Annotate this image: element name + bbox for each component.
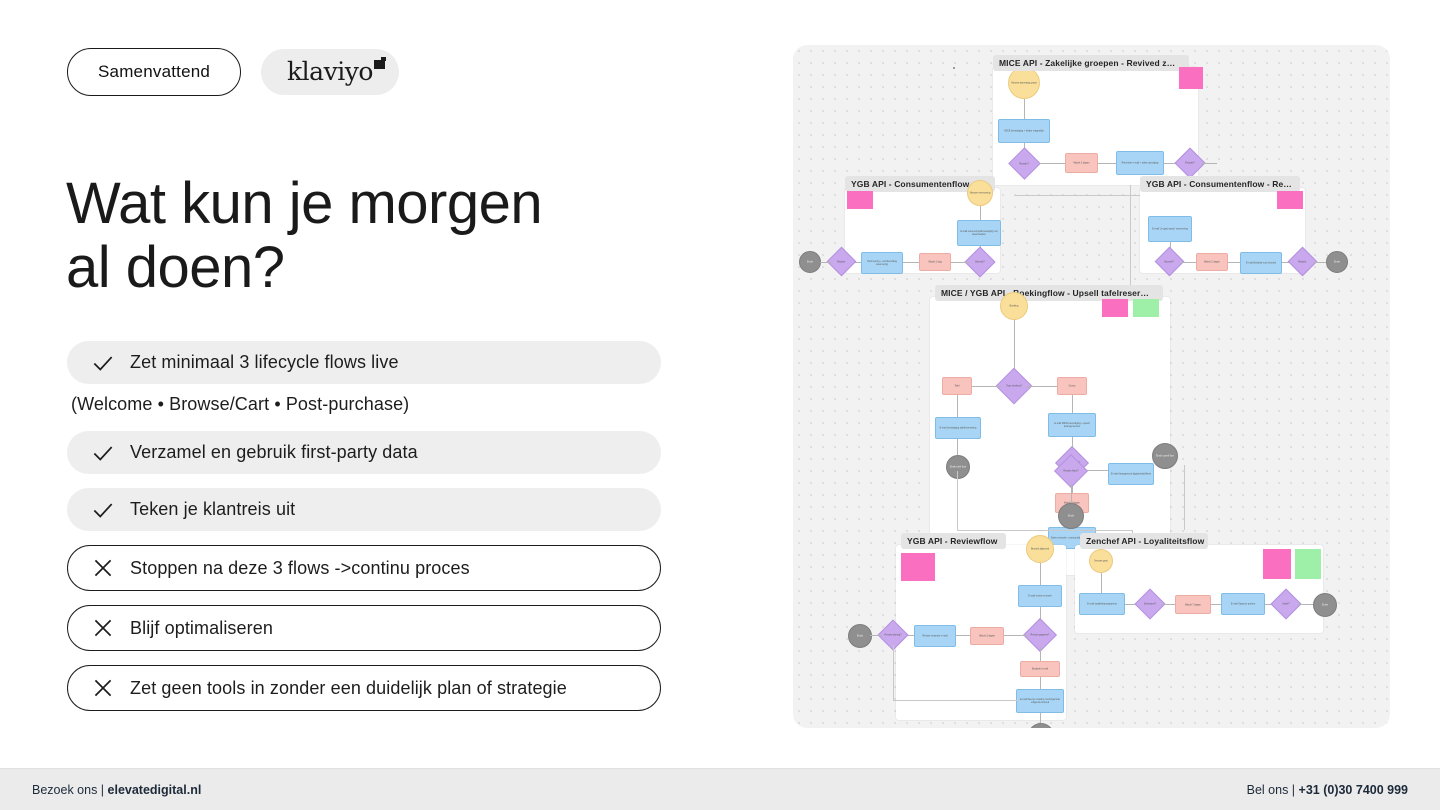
edge [1098,163,1116,164]
footer-right-prefix: Bel ons | [1247,783,1295,797]
sticky-note-pink[interactable] [1179,67,1203,89]
headline-line-2: al doen? [66,235,285,300]
list-item[interactable]: Zet geen tools in zonder een duidelijk p… [67,665,661,711]
node-action[interactable]: Review reminder e-mail [914,625,956,647]
node-end[interactable]: Einde [799,251,821,273]
checklist-note: (Welcome • Browse/Cart • Post-purchase) [71,394,661,415]
node-text: Bezoek? [1160,260,1179,263]
edge [1180,262,1196,263]
node-text: E-mail Spaar je punten [1222,602,1264,605]
node-text: E-mail Deel je ervaring / kortingscode v… [1017,698,1063,704]
node-text: Boeking [1001,304,1027,307]
edge [820,262,832,263]
list-item-label: Blijf optimaliseren [130,618,273,639]
node-text: Einde [849,634,871,637]
node-start[interactable]: Nieuwe reservering [967,180,993,206]
node-text: Review alsnog? [883,633,903,636]
node-text: Einde [800,260,820,263]
edge [957,395,958,417]
node-end[interactable]: Einde [848,624,872,648]
list-item[interactable]: Teken je klantreis uit [67,488,661,531]
edge [1040,563,1041,585]
connector [957,471,1072,531]
node-action[interactable]: E-mail Spaar je punten [1221,593,1265,615]
edge [970,386,1001,387]
node-text: Wacht 1 dag [920,260,950,263]
node-text: Tafel [943,384,971,387]
node-text: Einde [1327,260,1347,263]
footer-right: Bel ons | +31 (0)30 7400 999 [1247,783,1408,797]
check-icon [90,440,116,466]
node-text: Nieuwe aanvraag groep [1009,81,1039,84]
node-end[interactable]: Einde [1326,251,1348,273]
footer-left-prefix: Bezoek ons | [32,783,104,797]
footer-left-value[interactable]: elevatedigital.nl [108,783,202,797]
node-text: E-mail Bedankt voor bezoek [1241,261,1281,264]
node-text: Reactie [832,260,851,263]
edge [957,439,958,455]
footer-left: Bezoek ons | elevatedigital.nl [32,783,201,797]
node-action[interactable]: E-mail 'Je gast wacht' reservering [1148,216,1192,242]
node-branch-left[interactable]: Tafel [942,377,972,395]
frame-title: Zenchef API - Loyaliteitsflow [1080,533,1208,549]
node-text: Bezoek afgerond [1027,547,1053,550]
node-text: MICE bevestiging + intake vragenlijst [999,129,1049,132]
edge [1014,320,1015,374]
connector [893,645,1020,701]
edge [1297,604,1313,605]
node-text: Reactie? [1180,161,1200,164]
frame-title: YGB API - Consumentenflow - Re… [1140,176,1300,192]
edge [1024,99,1025,119]
frame-zenchef-loyaliteitsflow[interactable]: Zenchef API - Loyaliteitsflow Nieuwe gas… [1075,545,1323,633]
node-wait[interactable]: Wacht 7 dagen [1175,595,1211,614]
summary-pill[interactable]: Samenvattend [67,48,241,96]
sticky-note-pink[interactable] [1277,191,1303,209]
frame-mice-zakelijke-groepen[interactable]: Nieuwe aanvraag groep MICE bevestiging +… [993,67,1198,185]
footer-right-value[interactable]: +31 (0)30 7400 999 [1299,783,1408,797]
node-text: E-mail reserveringsbevestiging met sfeer… [958,230,1000,236]
frame-ygb-consumentenflow-left[interactable]: YGB API - Consumentenflow - … Nieuwe res… [845,188,1000,273]
node-text: Review reminder e-mail [915,634,955,637]
slide: Samenvattend klaviyo Wat kun je morgen a… [0,0,1440,810]
header-pill-row: Samenvattend klaviyo [67,48,399,96]
node-start[interactable]: Nieuwe gast [1089,549,1113,573]
edge [1027,386,1057,387]
edge [1101,573,1102,593]
headline-line-1: Wat kun je morgen [66,171,542,236]
node-action[interactable]: Herinnering + voorbereiding reservering [861,252,903,274]
node-text: Nieuwe gast [1090,559,1112,562]
node-text: E-mail bevestiging tafelreservering [936,426,980,429]
edge [1201,163,1217,164]
node-text: Einde [1314,603,1336,606]
edge [903,262,919,263]
node-text: Einde tafel flow [947,465,969,468]
edge [1040,713,1041,723]
node-text: Wacht 2 dagen [1066,161,1097,164]
list-item-label: Zet geen tools in zonder een duidelijk p… [130,678,567,699]
node-action[interactable]: MICE bevestiging + intake vragenlijst [998,119,1050,143]
node-text: Actief? [1276,602,1296,605]
node-wait[interactable]: Bedankt e-mail [1020,661,1060,677]
list-item-label: Stoppen na deze 3 flows ->continu proces [130,558,470,579]
edge [1004,635,1028,636]
edge [1228,262,1240,263]
node-text: Nieuwe reservering [968,191,992,194]
edge [980,206,981,220]
node-start[interactable]: Boeking [1000,292,1028,320]
sticky-note-pink[interactable] [1263,549,1291,579]
frame-title: MICE API - Zakelijke groepen - Revived z… [993,55,1189,71]
klaviyo-wordmark-text: klaviyo [287,59,373,85]
node-text: Reactie [1293,260,1312,263]
node-wait[interactable]: Wacht 2 dagen [1196,253,1228,271]
sticky-note-green[interactable] [1295,549,1321,579]
node-end[interactable]: Einde [1313,593,1337,617]
node-action[interactable]: E-mail review verzoek [1018,585,1062,607]
node-text: E-mail MICE bevestiging + upsell arrange… [1049,422,1095,428]
check-icon [90,497,116,523]
node-action[interactable]: E-mail bevestiging tafelreservering [935,417,981,439]
node-action[interactable]: E-mail Deel je ervaring / kortingscode v… [1016,689,1064,713]
action-checklist: Zet minimaal 3 lifecycle flows live (Wel… [67,341,661,725]
node-spacer [953,67,955,69]
edge [1313,262,1326,263]
list-item-label: Zet minimaal 3 lifecycle flows live [130,352,399,373]
klaviyo-logo: klaviyo [261,49,399,95]
footer: Bezoek ons | elevatedigital.nl Bel ons |… [0,768,1440,810]
node-text: E-mail 'Je gast wacht' reservering [1149,227,1191,230]
node-text: Reactie? [1014,162,1035,165]
cross-icon [90,615,116,641]
frame-ygb-reviewflow[interactable]: YGB API - Reviewflow Bezoek afgerond E-m… [896,545,1066,720]
list-item[interactable]: Blijf optimaliseren [67,605,661,651]
flowchart-board[interactable]: Nieuwe aanvraag groep MICE bevestiging +… [793,45,1390,728]
edge [1072,395,1073,413]
node-action[interactable]: E-mail Bedankt voor bezoek [1240,252,1282,274]
node-start[interactable]: Nieuwe aanvraag groep [1008,67,1040,99]
node-text: Groep [1058,384,1086,387]
list-item-label: Verzamel en gebruik first-party data [130,442,418,463]
node-action[interactable]: Reminder e-mail + sales opvolging [1116,151,1164,175]
edge [1040,677,1041,689]
connector [893,700,1020,701]
edge [950,262,970,263]
node-text: Bezoek? [970,260,990,263]
node-wait[interactable]: Wacht 1 dag [919,253,951,271]
node-wait[interactable]: Wacht 3 dagen [970,627,1004,645]
cross-icon [90,555,116,581]
node-text: Herinnering + voorbereiding reservering [862,260,902,266]
node-start[interactable]: Bezoek afgerond [1026,535,1054,563]
node-text: Bedankt e-mail [1021,667,1059,670]
sticky-note-pink[interactable] [1102,299,1128,317]
node-action[interactable]: E-mail loyaliteitsprogramma [1079,593,1125,615]
node-action[interactable]: E-mail reserveringsbevestiging met sfeer… [957,220,1001,246]
node-text: Einde upsell flow [1153,454,1177,457]
node-text: Review gegeven? [1029,633,1051,636]
list-item[interactable]: Zet minimaal 3 lifecycle flows live [67,341,661,384]
list-item[interactable]: Stoppen na deze 3 flows ->continu proces [67,545,661,591]
frame-ygb-consumentenflow-right[interactable]: YGB API - Consumentenflow - Re… E-mail '… [1140,188,1305,273]
node-text: E-mail loyaliteitsprogramma [1080,602,1124,605]
cross-icon [90,675,116,701]
edge [1161,604,1175,605]
edge [1039,163,1065,164]
node-text: Type boeking? [1002,384,1026,387]
list-item[interactable]: Verzamel en gebruik first-party data [67,431,661,474]
node-action[interactable]: E-mail MICE bevestiging + upsell arrange… [1048,413,1096,437]
frame-title: MICE / YGB API - Boekingflow - Upsell ta… [935,285,1163,301]
edge [1211,604,1221,605]
frame-title: YGB API - Reviewflow [901,533,1006,549]
connector [1085,465,1185,530]
node-text: Reminder e-mail + sales opvolging [1117,161,1163,164]
check-icon [90,350,116,376]
edge [1040,647,1041,661]
list-item-label: Teken je klantreis uit [130,499,295,520]
node-text: Wacht 3 dagen [971,634,1003,637]
node-text: Wacht 2 dagen [1197,260,1227,263]
sticky-note-pink[interactable] [847,191,873,209]
node-text: Wacht 7 dagen [1176,603,1210,606]
page-title: Wat kun je morgen al doen? [66,172,666,300]
node-branch-right[interactable]: Groep [1057,377,1087,395]
sticky-note-pink[interactable] [901,553,935,581]
edge [956,635,970,636]
node-wait[interactable]: Wacht 2 dagen [1065,153,1098,173]
sticky-note-green[interactable] [1133,299,1159,317]
node-text: E-mail review verzoek [1019,594,1061,597]
node-decision[interactable]: Reactie? [1008,147,1041,180]
node-text: Deelname? [1140,602,1160,605]
edge [870,635,882,636]
